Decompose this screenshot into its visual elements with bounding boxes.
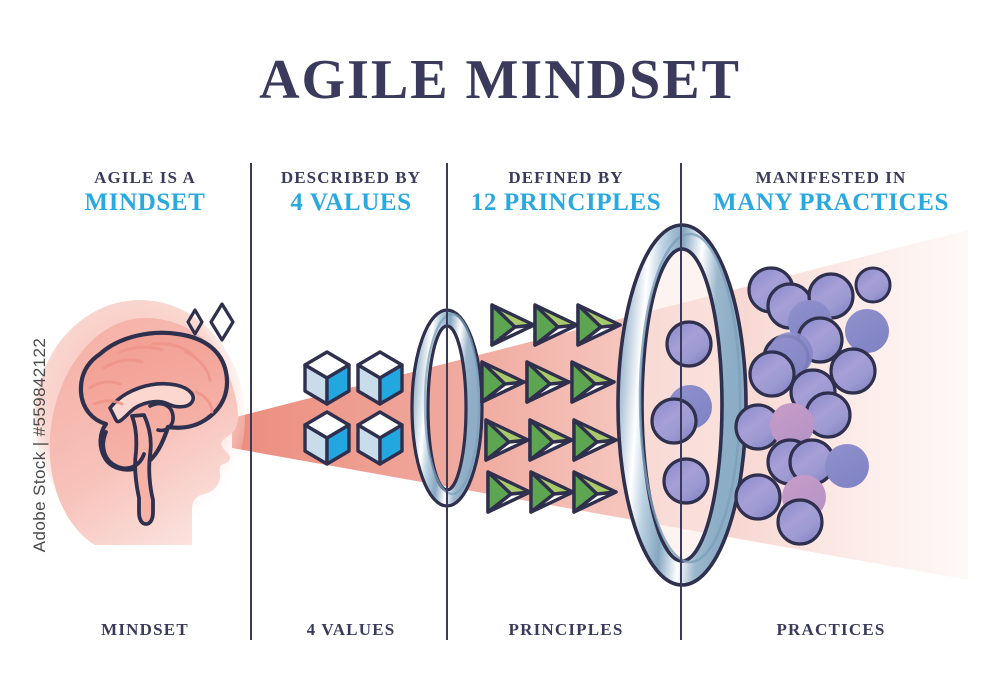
column-header-mindset: AGILE IS A MINDSET [40, 168, 250, 217]
column-header-principles: DEFINED BY 12 PRINCIPLES [452, 168, 680, 217]
column-header-top-label: DESCRIBED BY [256, 168, 446, 187]
sphere-item [736, 475, 780, 519]
sphere-item [856, 268, 890, 302]
arrow-item [535, 305, 577, 345]
arrow-grid-icon [482, 305, 620, 512]
arrow-item [574, 420, 616, 460]
column-header-bottom-label: 12 PRINCIPLES [452, 189, 680, 217]
sphere-item [791, 370, 835, 414]
column-header-top-label: AGILE IS A [40, 168, 250, 187]
head-brain-icon [35, 300, 245, 545]
sphere-cluster-icon [736, 268, 890, 544]
cube-item [358, 412, 402, 464]
sphere-item [736, 405, 780, 449]
column-header-bottom-label: MANY PRACTICES [686, 189, 976, 217]
column-footer-mindset: MINDSET [40, 620, 250, 640]
sphere-item [788, 300, 832, 344]
sphere-item [782, 475, 826, 519]
sphere-item [749, 268, 793, 312]
stock-watermark: Adobe Stock | #559842122 [30, 335, 50, 555]
column-header-values: DESCRIBED BY 4 VALUES [256, 168, 446, 217]
arrow-item [578, 305, 620, 345]
sphere-item [806, 393, 850, 437]
sphere-item [778, 500, 822, 544]
arrow-item [531, 472, 573, 512]
cube-item [305, 352, 349, 404]
sphere-item [825, 444, 869, 488]
arrow-item [530, 420, 572, 460]
arrow-item [527, 362, 569, 402]
arrow-item [572, 362, 614, 402]
sphere-item [750, 352, 794, 396]
column-divider [446, 163, 448, 640]
column-footer-principles: PRINCIPLES [452, 620, 680, 640]
arrow-item [574, 472, 616, 512]
column-header-top-label: DEFINED BY [452, 168, 680, 187]
sparkle-icons [188, 304, 233, 340]
sphere-item [768, 440, 812, 484]
sphere-item [790, 440, 834, 484]
sphere-item [652, 399, 696, 443]
sphere-item [769, 332, 813, 376]
sphere-item [768, 284, 812, 328]
lens-sphere-group [652, 322, 712, 503]
sphere-item [798, 318, 842, 362]
arrow-item [486, 420, 528, 460]
column-divider [680, 163, 682, 640]
arrow-item [482, 362, 524, 402]
column-header-practices: MANIFESTED IN MANY PRACTICES [686, 168, 976, 217]
column-divider [250, 163, 252, 640]
sparkle-small-icon [188, 310, 202, 334]
sphere-item [845, 309, 889, 353]
cube-item [305, 412, 349, 464]
column-header-bottom-label: 4 VALUES [256, 189, 446, 217]
sphere-item [770, 403, 814, 447]
cube-item [358, 352, 402, 404]
large-lens-ring-icon [618, 225, 746, 585]
arrow-item [492, 305, 534, 345]
page-title: AGILE MINDSET [0, 52, 1000, 108]
sphere-item [664, 459, 708, 503]
column-header-bottom-label: MINDSET [40, 189, 250, 217]
cube-group-icon [305, 352, 402, 464]
sphere-item [668, 385, 712, 429]
column-footer-practices: PRACTICES [686, 620, 976, 640]
sphere-item [764, 336, 808, 380]
sphere-item [809, 274, 853, 318]
column-header-top-label: MANIFESTED IN [686, 168, 976, 187]
column-footer-values: 4 VALUES [256, 620, 446, 640]
sphere-item [667, 322, 711, 366]
pink-beam [232, 230, 968, 580]
arrow-item [488, 472, 530, 512]
sparkle-large-icon [211, 304, 233, 340]
infographic-canvas: AGILE MINDSET AGILE IS A MINDSET DESCRIB… [0, 0, 1000, 700]
sphere-item [831, 349, 875, 393]
